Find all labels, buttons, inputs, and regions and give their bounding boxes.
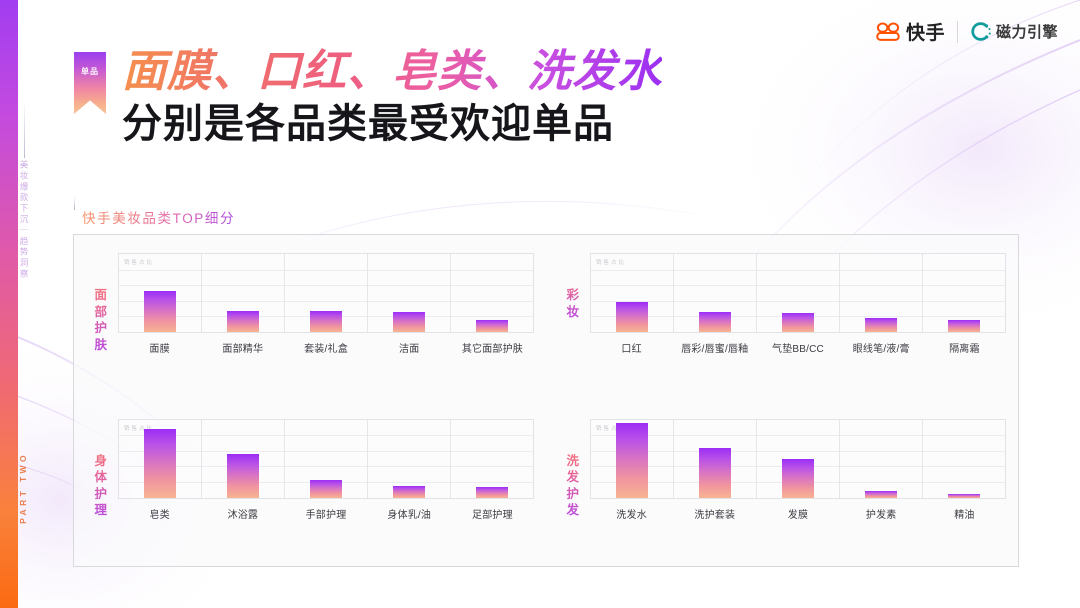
chart-block-身体护理: 身体护理销售占比皂类沐浴露手部护理身体乳/油足部护理 bbox=[74, 401, 546, 567]
chart-column bbox=[923, 420, 1005, 498]
chart-x-label: 口红 bbox=[590, 340, 673, 355]
chart-category-label-char: 面 bbox=[84, 287, 118, 304]
chart-plot: 销售占比 bbox=[118, 253, 534, 333]
chart-bar bbox=[865, 318, 897, 332]
chart-x-label: 足部护理 bbox=[451, 506, 534, 521]
magnetic-engine-wordmark: 磁力引擎 bbox=[996, 21, 1058, 42]
chart-plot: 销售占比 bbox=[590, 419, 1006, 499]
chart-bar bbox=[310, 480, 342, 498]
chart-category-label-char: 肤 bbox=[84, 337, 118, 354]
chart-bar bbox=[699, 312, 731, 332]
brand-divider bbox=[957, 21, 958, 43]
magnetic-engine-logo: 磁力引擎 bbox=[970, 21, 1058, 42]
chart-x-label: 洗护套装 bbox=[673, 506, 756, 521]
kuaishou-wordmark: 快手 bbox=[906, 18, 945, 45]
chart-plot-area: 销售占比洗发水洗护套装发膜护发素精油 bbox=[590, 419, 1006, 521]
chart-bar bbox=[144, 291, 176, 332]
chart-x-label: 发膜 bbox=[756, 506, 839, 521]
side-gradient-rail bbox=[0, 0, 18, 608]
chart-axis-note: 销售占比 bbox=[124, 258, 154, 266]
chart-x-axis-labels: 皂类沐浴露手部护理身体乳/油足部护理 bbox=[118, 506, 534, 521]
chart-column bbox=[923, 254, 1005, 332]
chart-column bbox=[368, 420, 451, 498]
chart-category-label-char: 发 bbox=[556, 502, 590, 519]
chart-category-label-char: 身 bbox=[84, 453, 118, 470]
side-part-label: PART TWO bbox=[18, 452, 28, 524]
chart-column bbox=[202, 254, 285, 332]
chart-category-label-char: 妆 bbox=[556, 304, 590, 321]
chart-column bbox=[674, 254, 757, 332]
chart-category-label-char: 护 bbox=[84, 486, 118, 503]
chart-bar bbox=[227, 454, 259, 498]
chart-category-label-char: 理 bbox=[84, 502, 118, 519]
brand-bar: 快手 磁力引擎 bbox=[875, 18, 1058, 45]
charts-grid: 面部护肤销售占比面膜面部精华套装/礼盒洁面其它面部护肤彩妆销售占比口红唇彩/唇蜜… bbox=[74, 235, 1018, 566]
ribbon-badge: 单品 bbox=[74, 52, 106, 114]
chart-category-label-char: 彩 bbox=[556, 287, 590, 304]
chart-category-label-char: 护 bbox=[556, 486, 590, 503]
chart-block-面部护肤: 面部护肤销售占比面膜面部精华套装/礼盒洁面其它面部护肤 bbox=[74, 235, 546, 401]
chart-x-label: 气垫BB/CC bbox=[756, 340, 839, 355]
chart-bar bbox=[616, 423, 648, 497]
chart-x-label: 护发素 bbox=[840, 506, 923, 521]
chart-category-label-char: 护 bbox=[84, 320, 118, 337]
kuaishou-camera-icon bbox=[875, 22, 901, 41]
chart-x-axis-labels: 面膜面部精华套装/礼盒洁面其它面部护肤 bbox=[118, 340, 534, 355]
chart-bar bbox=[227, 311, 259, 332]
chart-column bbox=[451, 254, 533, 332]
chart-bar bbox=[476, 487, 508, 497]
chart-category-label-char: 发 bbox=[556, 469, 590, 486]
side-vertical-chinese-label: 美妆爆款下沉｜趋势洞察 bbox=[18, 160, 30, 280]
charts-panel: 面部护肤销售占比面膜面部精华套装/礼盒洁面其它面部护肤彩妆销售占比口红唇彩/唇蜜… bbox=[73, 234, 1019, 567]
chart-category-label-char: 体 bbox=[84, 469, 118, 486]
chart-x-label: 套装/礼盒 bbox=[284, 340, 367, 355]
chart-bar bbox=[393, 312, 425, 332]
chart-column bbox=[840, 420, 923, 498]
chart-column bbox=[757, 420, 840, 498]
chart-category-label: 洗发护发 bbox=[556, 419, 590, 519]
chart-bar bbox=[310, 311, 342, 332]
ribbon-label: 单品 bbox=[81, 66, 99, 77]
chart-bar bbox=[782, 313, 814, 332]
chart-x-label: 唇彩/唇蜜/唇釉 bbox=[673, 340, 756, 355]
chart-column bbox=[285, 420, 368, 498]
chart-x-label: 面部精华 bbox=[201, 340, 284, 355]
chart-bar bbox=[393, 486, 425, 498]
chart-x-label: 身体乳/油 bbox=[368, 506, 451, 521]
chart-column bbox=[674, 420, 757, 498]
chart-bar bbox=[699, 448, 731, 498]
chart-x-axis-labels: 洗发水洗护套装发膜护发素精油 bbox=[590, 506, 1006, 521]
chart-x-label: 眼线笔/液/膏 bbox=[840, 340, 923, 355]
chart-column bbox=[285, 254, 368, 332]
chart-x-axis-labels: 口红唇彩/唇蜜/唇釉气垫BB/CC眼线笔/液/膏隔离霜 bbox=[590, 340, 1006, 355]
chart-plot: 销售占比 bbox=[118, 419, 534, 499]
chart-block-洗发护发: 洗发护发销售占比洗发水洗护套装发膜护发素精油 bbox=[546, 401, 1018, 567]
chart-category-label: 彩妆 bbox=[556, 253, 590, 320]
chart-bar bbox=[782, 459, 814, 498]
chart-x-label: 面膜 bbox=[118, 340, 201, 355]
section-tick bbox=[74, 196, 75, 210]
chart-plot: 销售占比 bbox=[590, 253, 1006, 333]
kuaishou-logo: 快手 bbox=[875, 18, 945, 45]
chart-x-label: 洗发水 bbox=[590, 506, 673, 521]
chart-x-label: 其它面部护肤 bbox=[451, 340, 534, 355]
chart-column bbox=[202, 420, 285, 498]
chart-x-label: 皂类 bbox=[118, 506, 201, 521]
page-title: 面膜、口红、皂类、洗发水 分别是各品类最受欢迎单品 bbox=[122, 46, 662, 149]
chart-x-label: 洁面 bbox=[368, 340, 451, 355]
chart-category-label-char: 洗 bbox=[556, 453, 590, 470]
chart-column bbox=[757, 254, 840, 332]
chart-plot-area: 销售占比面膜面部精华套装/礼盒洁面其它面部护肤 bbox=[118, 253, 534, 355]
side-tick-divider bbox=[24, 100, 25, 158]
chart-plot-area: 销售占比口红唇彩/唇蜜/唇釉气垫BB/CC眼线笔/液/膏隔离霜 bbox=[590, 253, 1006, 355]
headline-line-1: 面膜、口红、皂类、洗发水 bbox=[122, 46, 662, 98]
headline-line-2: 分别是各品类最受欢迎单品 bbox=[122, 100, 662, 149]
chart-column bbox=[451, 420, 533, 498]
chart-axis-note: 销售占比 bbox=[596, 258, 626, 266]
chart-category-label-char: 部 bbox=[84, 304, 118, 321]
chart-x-label: 精油 bbox=[923, 506, 1006, 521]
chart-x-label: 手部护理 bbox=[284, 506, 367, 521]
chart-column bbox=[368, 254, 451, 332]
chart-x-label: 沐浴露 bbox=[201, 506, 284, 521]
chart-block-彩妆: 彩妆销售占比口红唇彩/唇蜜/唇釉气垫BB/CC眼线笔/液/膏隔离霜 bbox=[546, 235, 1018, 401]
section-title: 快手美妆品类TOP细分 bbox=[82, 207, 235, 227]
chart-bar bbox=[144, 429, 176, 498]
magnetic-engine-icon bbox=[970, 21, 991, 42]
chart-x-label: 隔离霜 bbox=[923, 340, 1006, 355]
chart-category-label: 面部护肤 bbox=[84, 253, 118, 353]
chart-category-label: 身体护理 bbox=[84, 419, 118, 519]
chart-bar bbox=[948, 494, 980, 498]
chart-bar bbox=[476, 320, 508, 332]
chart-bar bbox=[865, 491, 897, 497]
chart-bar bbox=[616, 302, 648, 332]
chart-bar bbox=[948, 320, 980, 332]
chart-plot-area: 销售占比皂类沐浴露手部护理身体乳/油足部护理 bbox=[118, 419, 534, 521]
chart-column bbox=[840, 254, 923, 332]
